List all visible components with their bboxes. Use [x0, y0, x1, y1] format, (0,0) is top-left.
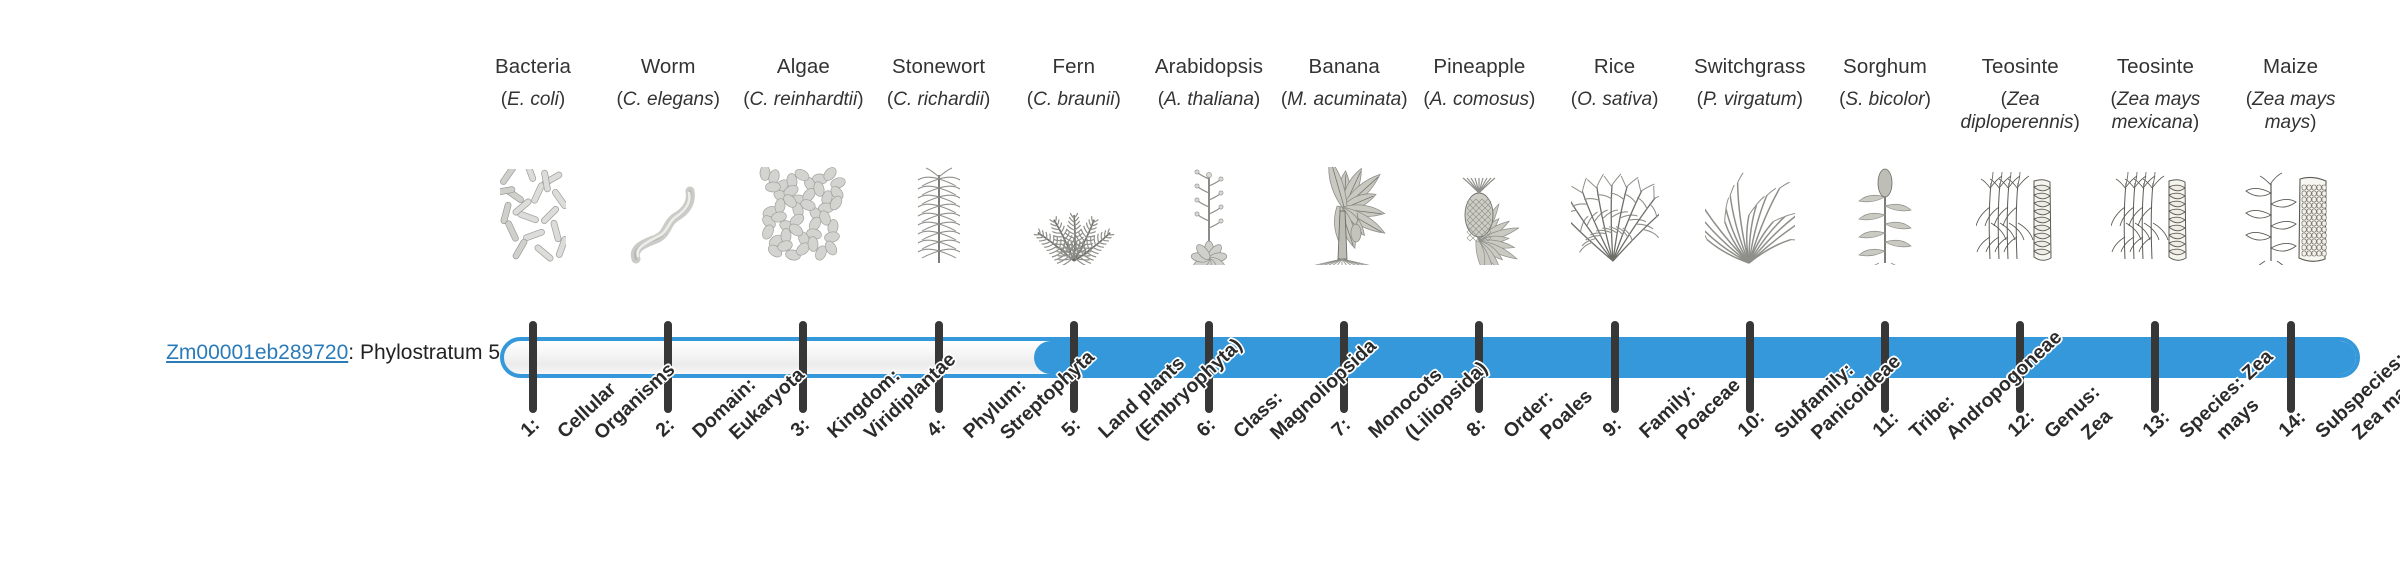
- phylostratum-label-group: 1:CellularOrganisms2:Domain:Eukaryota3:K…: [0, 0, 2400, 580]
- phylostratum-label-10: 10:Subfamily:Panicoideae: [1732, 311, 1906, 481]
- phylostratum-label-1: 1:CellularOrganisms: [515, 319, 681, 481]
- phylostratum-label-2: 2:Domain:Eukaryota: [650, 324, 810, 481]
- phylostratum-label-9: 9:Family:Poaceae: [1597, 335, 1746, 481]
- phylostratigraphy-figure: Zm00001eb289720: Phylostratum 5 Bacteria…: [0, 0, 2400, 580]
- phylostratum-label-4: 4:Phylum:Streptophyta: [921, 307, 1100, 482]
- phylostratum-label-3: 3:Kingdom:Viridiplantae: [785, 309, 962, 481]
- phylostratum-label-13: 13:Species: Zeamays: [2137, 325, 2296, 481]
